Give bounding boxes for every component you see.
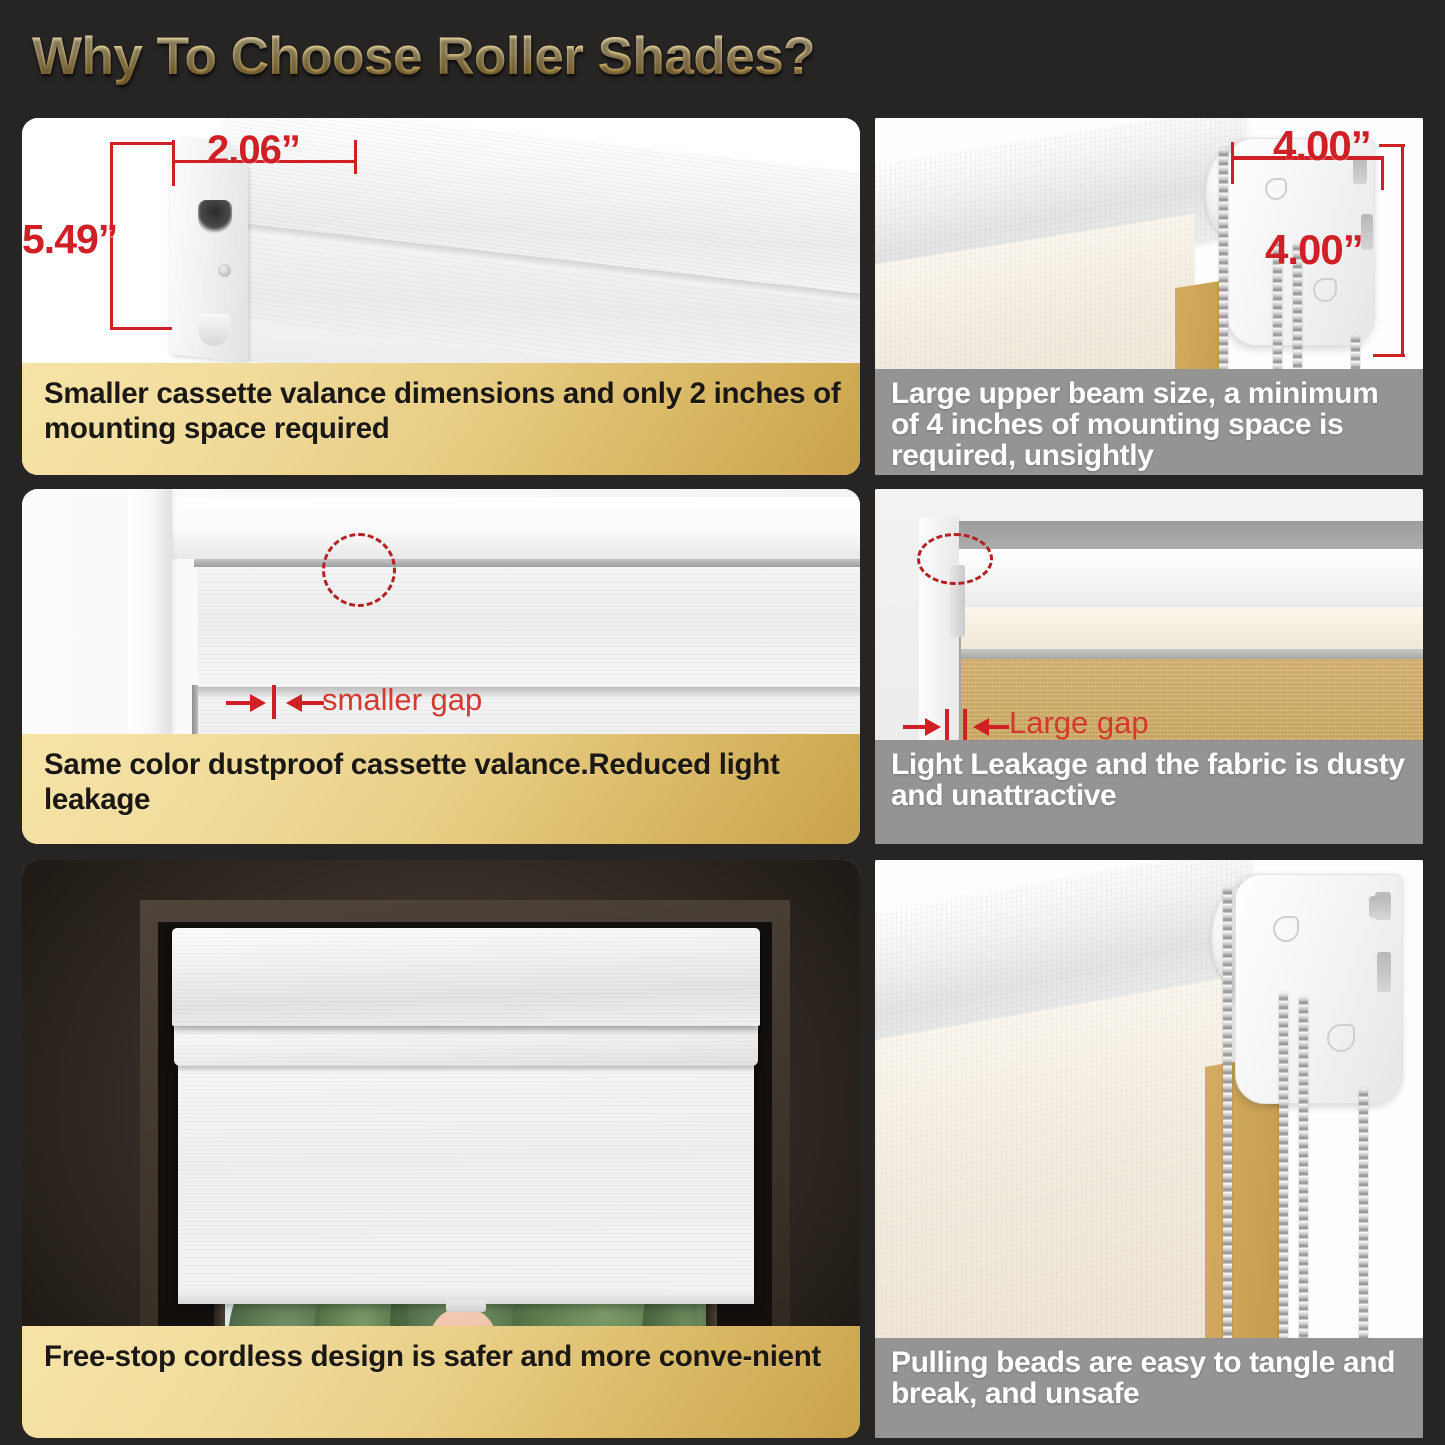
panel-large-upper-beam[interactable]: 4.00” 4.00” Large upper beam size, a min… (875, 118, 1423, 475)
gap-arrow-right-icon (925, 718, 941, 736)
comparison-grid: 2.06” 5.49” Smaller cassette valance dim… (0, 112, 1445, 1445)
dim-tick-top (1379, 144, 1405, 147)
gap-marker-right (963, 709, 967, 741)
gap-callout-label: Large gap (1009, 705, 1149, 741)
panel-light-leakage[interactable]: Large gap Light Leakage and the fabric i… (875, 489, 1423, 844)
panel-free-stop-cordless[interactable]: Free-stop cordless design is safer and m… (22, 860, 860, 1438)
gap-arrow-right-icon (250, 694, 266, 712)
dim-tick-left (1231, 142, 1234, 184)
gap-arrow-left-icon (286, 694, 302, 712)
panel-caption-free-stop-cordless: Free-stop cordless design is safer and m… (22, 1326, 860, 1438)
gap-arrow-left-icon (973, 718, 989, 736)
gap-arrow-stem-right (989, 725, 1009, 729)
panel-pulling-beads-unsafe[interactable]: Pulling beads are easy to tangle and bre… (875, 860, 1423, 1438)
highlight-ellipse-icon (322, 533, 396, 607)
dim-line-height (1401, 144, 1404, 356)
dim-tick-bottom (1373, 354, 1405, 357)
panel-cassette-valance-dimensions[interactable]: 2.06” 5.49” Smaller cassette valance dim… (22, 118, 860, 475)
page-title: Why To Choose Roller Shades? (32, 26, 815, 87)
gap-marker-left (945, 709, 949, 741)
dimension-height-label: 4.00” (1265, 226, 1363, 274)
gap-callout-label: smaller gap (322, 682, 482, 718)
panel-caption-light-leakage: Light Leakage and the fabric is dusty an… (875, 740, 1423, 844)
panel-caption-cassette-valance-dimensions: Smaller cassette valance dimensions and … (22, 363, 860, 475)
dimension-width-label: 2.06” (207, 128, 300, 173)
panel-caption-dustproof-cassette-valance: Same color dustproof cassette valance.Re… (22, 734, 860, 844)
panel-dustproof-cassette-valance[interactable]: smaller gap Same color dustproof cassett… (22, 489, 860, 844)
dim-tick-bottom (110, 327, 172, 330)
dim-tick-top (110, 142, 172, 145)
dim-tick-right (354, 140, 357, 174)
dimension-width-label: 4.00” (1273, 122, 1371, 170)
gap-arrow-stem-left (903, 725, 927, 729)
page-header: Why To Choose Roller Shades? (0, 0, 1445, 112)
dimension-height-label: 5.49” (22, 216, 117, 263)
dim-tick-left (172, 140, 175, 186)
gap-marker (272, 685, 276, 719)
panel-caption-large-upper-beam: Large upper beam size, a minimum of 4 in… (875, 369, 1423, 475)
panel-caption-pulling-beads-unsafe: Pulling beads are easy to tangle and bre… (875, 1338, 1423, 1438)
gap-arrow-stem-left (226, 701, 252, 705)
gap-arrow-stem-right (302, 701, 324, 705)
highlight-ellipse-icon (917, 533, 993, 585)
dim-tick-right (1381, 156, 1384, 190)
